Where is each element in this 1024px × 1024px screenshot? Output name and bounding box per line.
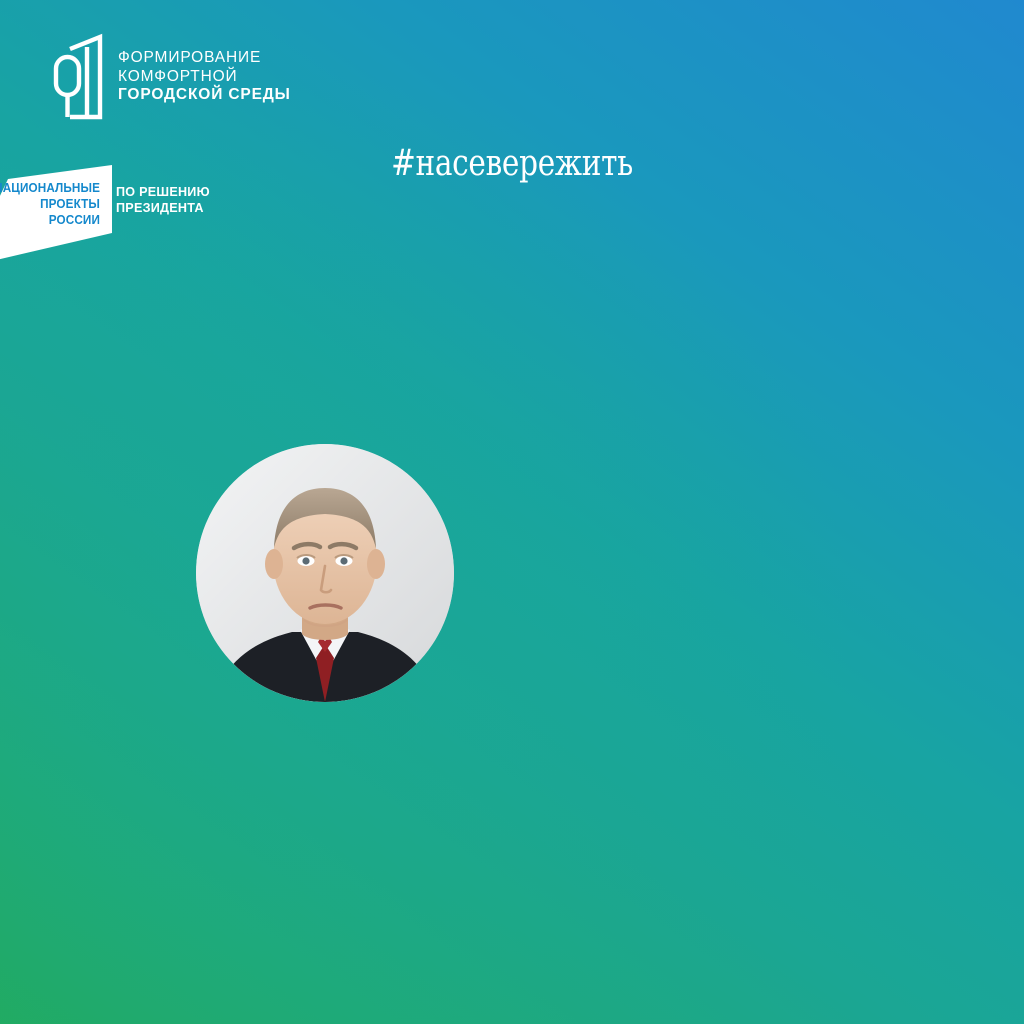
brand-line-2: КОМФОРТНОЙ <box>118 68 291 87</box>
national-projects-logo: НАЦИОНАЛЬНЫЕ ПРОЕКТЫ РОССИИ ПО РЕШЕНИЮ П… <box>0 163 214 273</box>
brand-logo: ФОРМИРОВАНИЕ КОМФОРТНОЙ ГОРОДСКОЙ СРЕДЫ <box>50 33 1024 121</box>
national-projects-tagline: ПО РЕШЕНИЮ ПРЕЗИДЕНТА <box>116 184 210 217</box>
hashtag: #насевережить <box>92 143 932 184</box>
national-projects-wordmark: НАЦИОНАЛЬНЫЕ ПРОЕКТЫ РОССИИ <box>0 181 100 229</box>
author-portrait <box>196 444 454 702</box>
np-line-3: РОССИИ <box>0 213 100 229</box>
brand-line-1: ФОРМИРОВАНИЕ <box>118 49 291 68</box>
np-tagline-1: ПО РЕШЕНИЮ <box>116 184 210 200</box>
np-line-2: ПРОЕКТЫ <box>0 197 100 213</box>
house-tree-logo-icon <box>50 33 104 121</box>
np-tagline-2: ПРЕЗИДЕНТА <box>116 200 210 216</box>
poster-canvas: ФОРМИРОВАНИЕ КОМФОРТНОЙ ГОРОДСКОЙ СРЕДЫ … <box>0 0 1024 1024</box>
np-line-1: НАЦИОНАЛЬНЫЕ <box>0 181 100 197</box>
brand-line-3: ГОРОДСКОЙ СРЕДЫ <box>118 86 291 105</box>
brand-text: ФОРМИРОВАНИЕ КОМФОРТНОЙ ГОРОДСКОЙ СРЕДЫ <box>118 49 291 106</box>
